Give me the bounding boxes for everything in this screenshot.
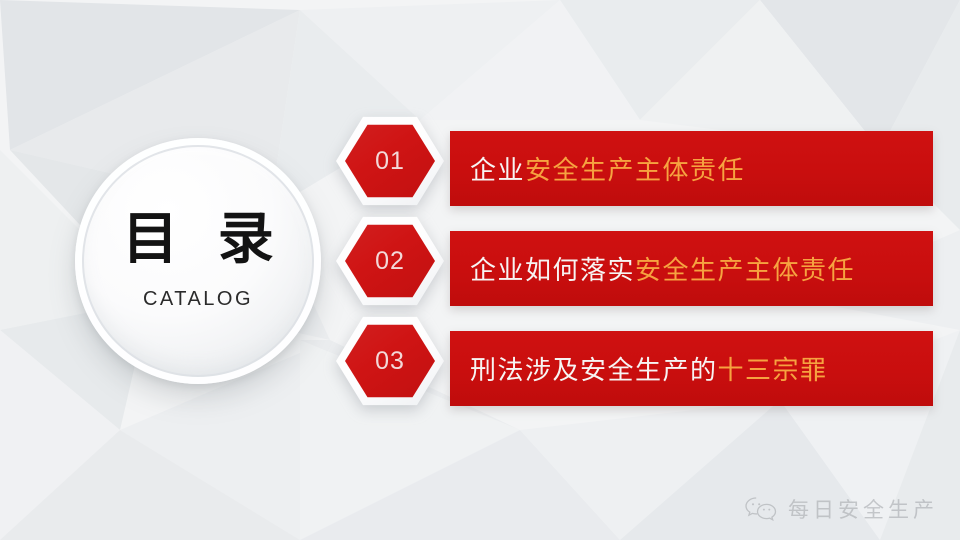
wechat-icon (744, 496, 778, 522)
agenda-number-02: 02 (375, 247, 405, 276)
agenda-bar-02[interactable]: 企业如何落实安全生产主体责任 (450, 231, 933, 306)
agenda-number-01: 01 (375, 147, 405, 176)
agenda-bar-01[interactable]: 企业安全生产主体责任 (450, 131, 933, 206)
hexagon-badge-03: 03 (336, 316, 444, 406)
agenda-label-03: 刑法涉及安全生产的十三宗罪 (470, 350, 828, 387)
agenda-label-02-primary: 企业如何落实 (470, 256, 635, 286)
agenda-label-02-highlight: 安全生产主体责任 (635, 256, 855, 286)
agenda-item-02[interactable]: 02 企业如何落实安全生产主体责任 (336, 216, 936, 306)
hexagon-badge-01: 01 (336, 116, 444, 206)
agenda-item-01[interactable]: 01 企业安全生产主体责任 (336, 116, 936, 206)
slide-root: 目 录 CATALOG 01 企业安全生产主体责任 02 (0, 0, 960, 540)
agenda-label-01: 企业安全生产主体责任 (470, 150, 745, 187)
agenda-label-03-highlight: 十三宗罪 (718, 356, 828, 386)
agenda-list: 01 企业安全生产主体责任 02 企业如何落实安全生产主体责任 (0, 0, 960, 540)
agenda-bar-03[interactable]: 刑法涉及安全生产的十三宗罪 (450, 331, 933, 406)
hexagon-badge-02: 02 (336, 216, 444, 306)
agenda-item-03[interactable]: 03 刑法涉及安全生产的十三宗罪 (336, 316, 936, 406)
agenda-label-02: 企业如何落实安全生产主体责任 (470, 250, 855, 287)
watermark: 每日安全生产 (744, 494, 938, 524)
agenda-label-01-highlight: 安全生产主体责任 (525, 156, 745, 186)
agenda-label-03-primary: 刑法涉及安全生产的 (470, 356, 718, 386)
agenda-number-03: 03 (375, 347, 405, 376)
watermark-text: 每日安全生产 (788, 494, 938, 524)
agenda-label-01-primary: 企业 (470, 156, 525, 186)
